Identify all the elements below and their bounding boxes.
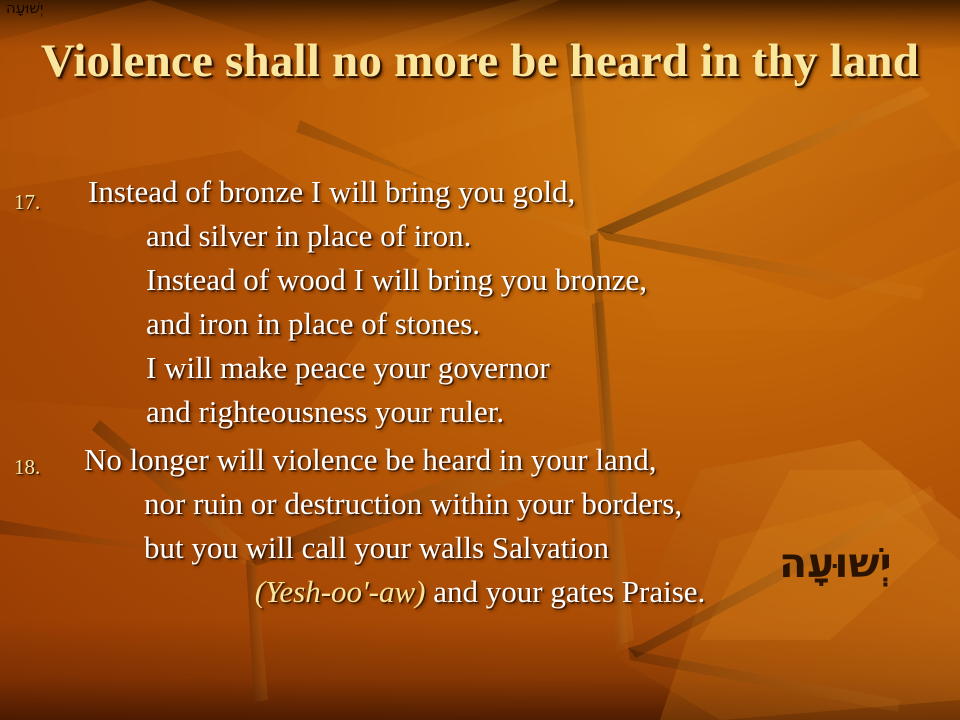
verse-line: and righteousness your ruler.	[0, 390, 960, 434]
verse-line: Instead of wood I will bring you bronze,	[0, 258, 960, 302]
hebrew-inline-word: יְשׁוּעָה	[779, 543, 892, 584]
verse-lines: Instead of bronze I will bring you gold,…	[0, 170, 960, 434]
final-line-rest: and your gates Praise.	[426, 574, 706, 609]
verse-line: and silver in place of iron.	[0, 214, 960, 258]
verse-number: 18.	[14, 457, 66, 478]
verse-lines: No longer will violence be heard in your…	[0, 438, 960, 614]
slide: יְשׁוּעָה Violence shall no more be hear…	[0, 0, 960, 720]
verse-item: 18. No longer will violence be heard in …	[0, 438, 960, 614]
verse-line: Instead of bronze I will bring you gold,	[0, 170, 960, 214]
transliteration-text: (Yesh-oo'-aw)	[255, 574, 426, 609]
verse-item: 17. Instead of bronze I will bring you g…	[0, 170, 960, 434]
verse-line: No longer will violence be heard in your…	[0, 438, 960, 482]
verse-line: nor ruin or destruction within your bord…	[0, 482, 960, 526]
page-title: Violence shall no more be heard in thy l…	[40, 30, 920, 93]
hebrew-corner-word: יְשׁוּעָה	[6, 1, 43, 16]
verse-number: 17.	[14, 192, 66, 213]
verse-line: I will make peace your governor	[0, 346, 960, 390]
verse-line: and iron in place of stones.	[0, 302, 960, 346]
leaf-vein-11	[628, 648, 900, 712]
